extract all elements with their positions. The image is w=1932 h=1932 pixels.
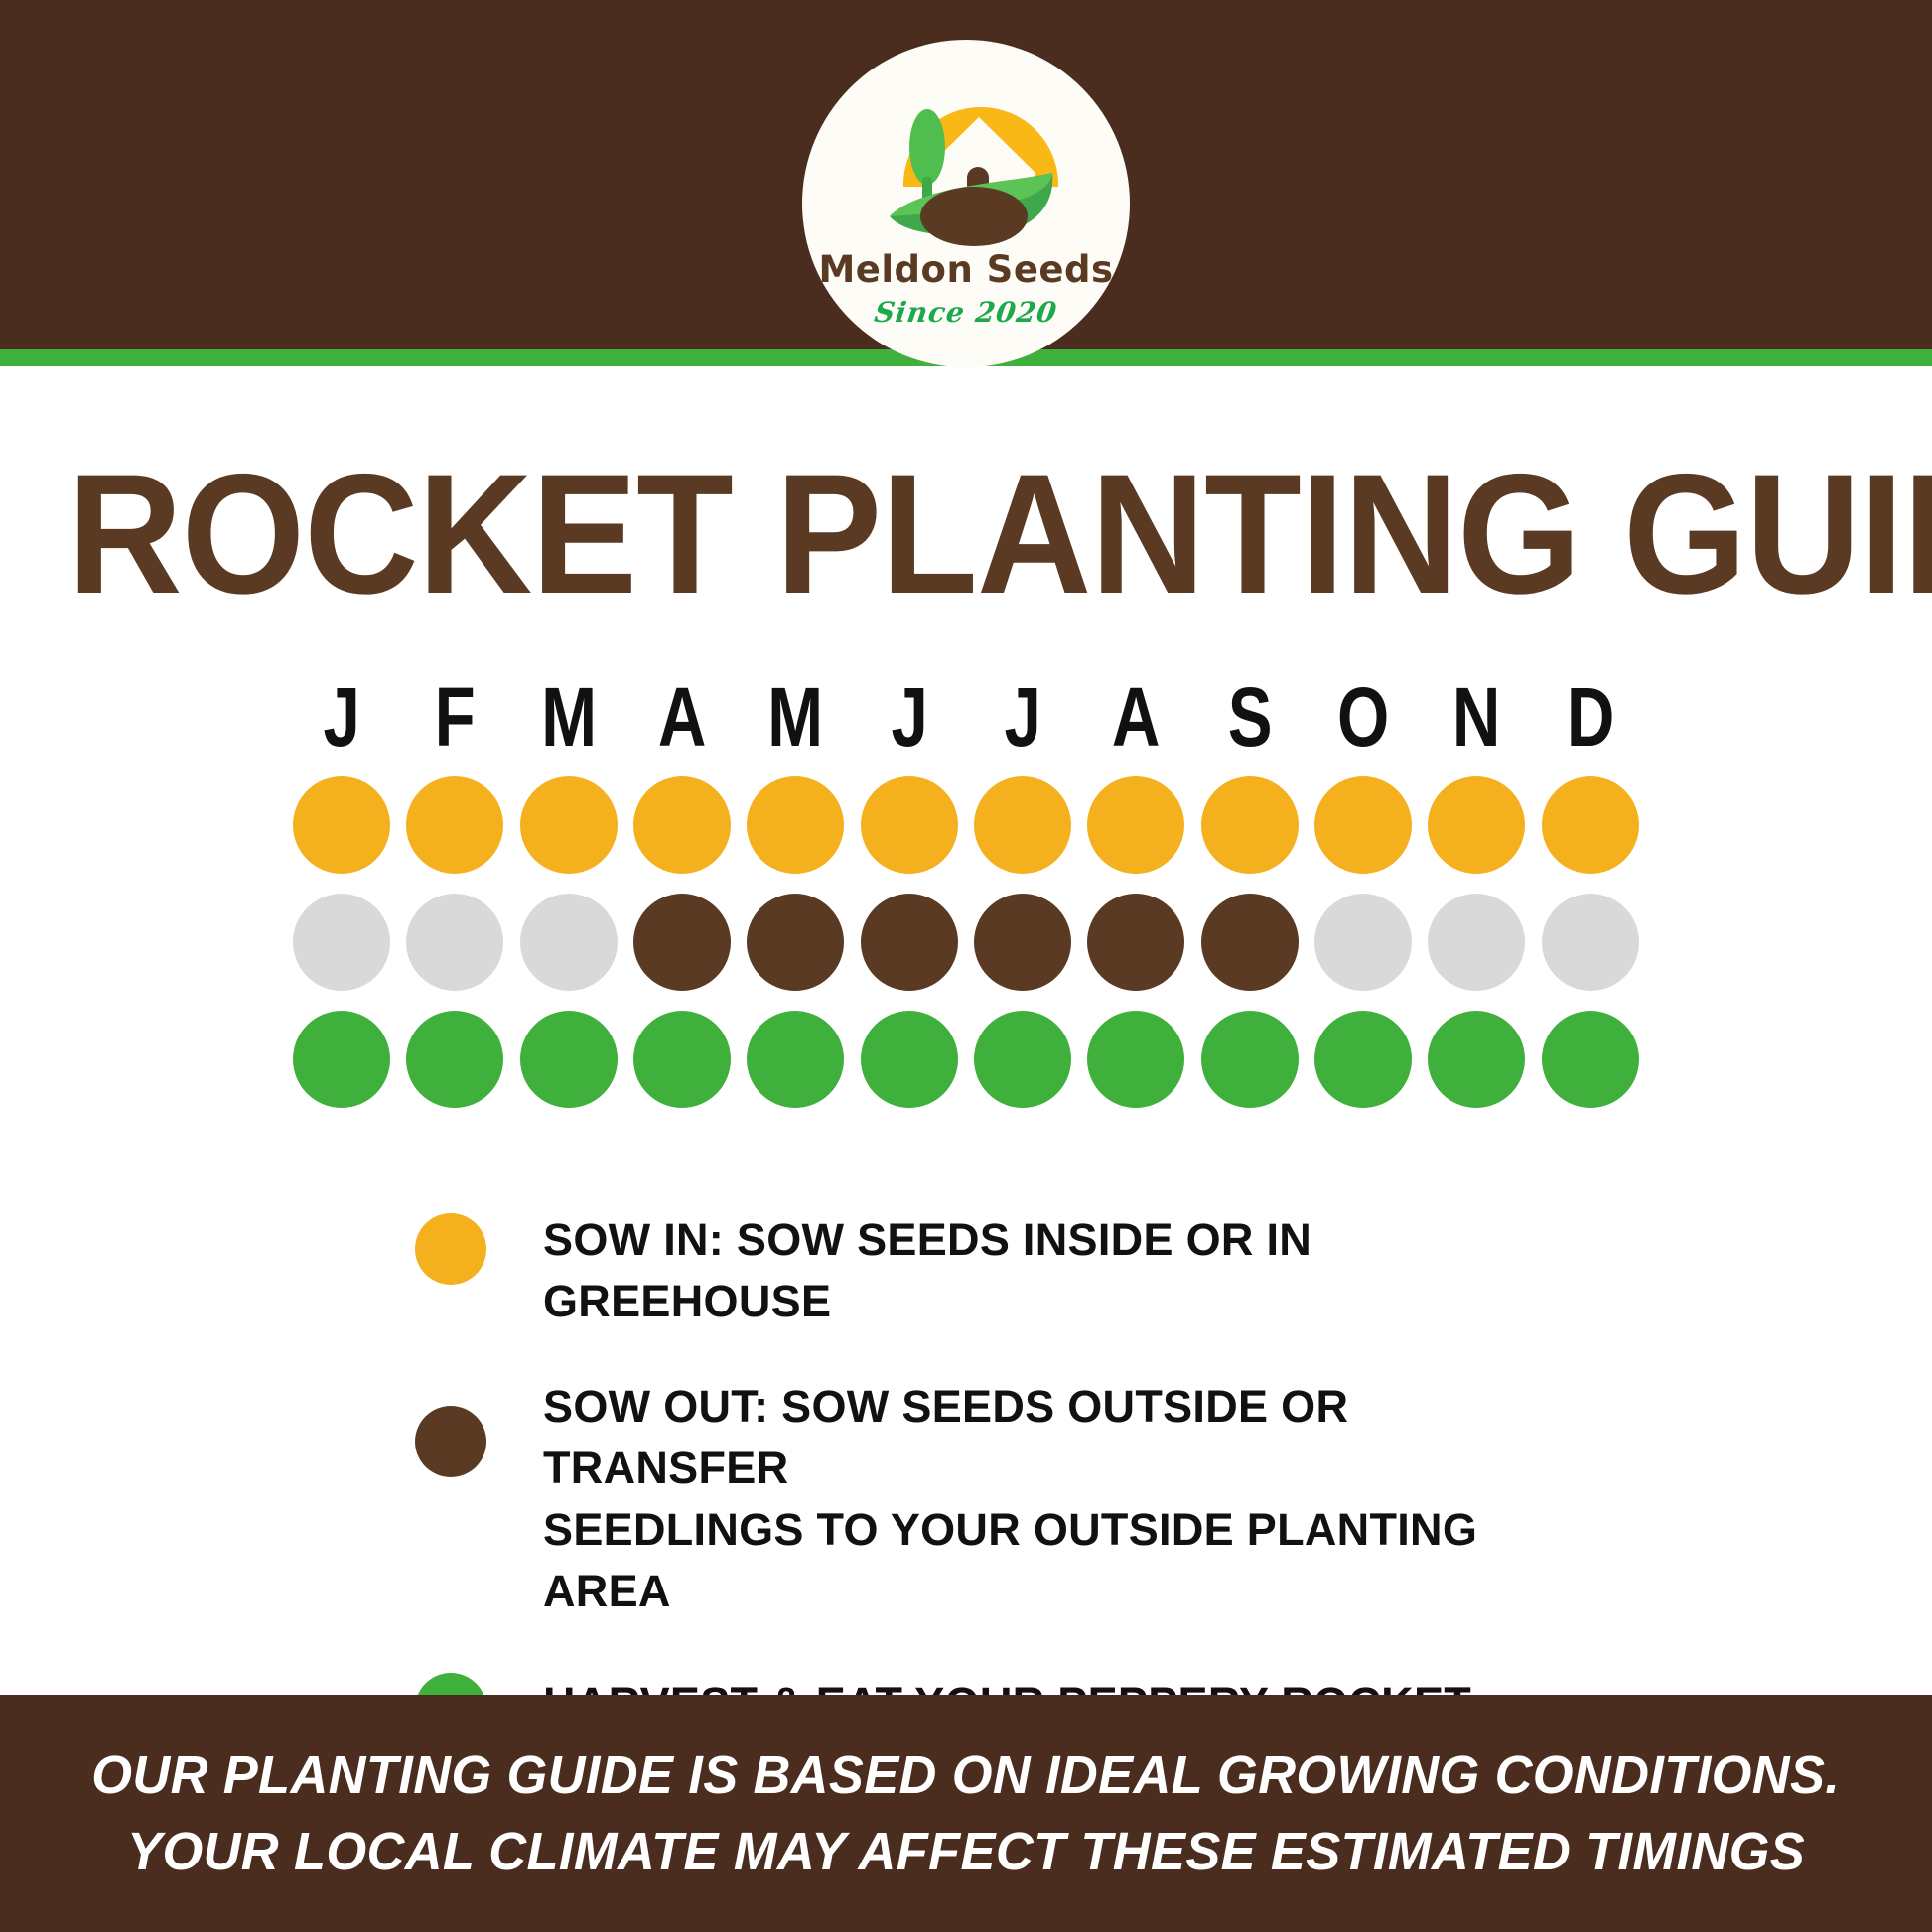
cell-sow-out-may: [739, 894, 852, 991]
dot-active: [1087, 1011, 1184, 1108]
dot-active: [406, 776, 503, 874]
footer-disclaimer-bar: OUR PLANTING GUIDE IS BASED ON IDEAL GRO…: [0, 1695, 1932, 1932]
dot-active: [747, 776, 844, 874]
cell-harvest-january: [285, 1011, 398, 1108]
month-label-november: N: [1432, 675, 1522, 759]
cell-sow-in-june: [853, 776, 966, 874]
month-label-january: J: [296, 675, 386, 759]
dot-active: [974, 776, 1071, 874]
month-label-august: A: [1091, 675, 1181, 759]
legend-item-sow-out: SOW OUT: SOW SEEDS OUTSIDE OR TRANSFERSE…: [415, 1376, 1606, 1622]
dot-active: [406, 1011, 503, 1108]
cell-sow-in-january: [285, 776, 398, 874]
dot-active: [974, 1011, 1071, 1108]
legend-dot-sow-out: [415, 1406, 486, 1477]
month-label-march: M: [523, 675, 614, 759]
dot-active: [861, 894, 958, 991]
dot-active: [293, 1011, 390, 1108]
dot-active: [520, 776, 618, 874]
dot-active: [1201, 1011, 1299, 1108]
cell-harvest-july: [966, 1011, 1079, 1108]
dot-active: [747, 894, 844, 991]
month-label-may: M: [751, 675, 841, 759]
dot-active: [1201, 776, 1299, 874]
dot-active: [747, 1011, 844, 1108]
cell-sow-out-july: [966, 894, 1079, 991]
cell-sow-out-april: [625, 894, 739, 991]
cell-harvest-april: [625, 1011, 739, 1108]
dot-active: [1542, 1011, 1639, 1108]
legend-label-line: SOW IN: SOW SEEDS INSIDE OR IN GREEHOUSE: [543, 1209, 1606, 1332]
dot-active: [520, 1011, 618, 1108]
legend-label-sow-in: SOW IN: SOW SEEDS INSIDE OR IN GREEHOUSE: [543, 1209, 1606, 1332]
dot-inactive: [1428, 894, 1525, 991]
cell-harvest-december: [1534, 1011, 1647, 1108]
logo-tagline: Since 2020: [873, 296, 1059, 329]
dot-active: [1428, 776, 1525, 874]
dot-active: [974, 894, 1071, 991]
dot-inactive: [293, 894, 390, 991]
legend-label-sow-out: SOW OUT: SOW SEEDS OUTSIDE OR TRANSFERSE…: [543, 1376, 1606, 1622]
dot-active: [633, 894, 731, 991]
legend-item-sow-in: SOW IN: SOW SEEDS INSIDE OR IN GREEHOUSE: [415, 1209, 1606, 1332]
cell-sow-out-june: [853, 894, 966, 991]
legend-label-line: SEEDLINGS TO YOUR OUTSIDE PLANTING AREA: [543, 1499, 1606, 1622]
cell-harvest-june: [853, 1011, 966, 1108]
cell-harvest-august: [1079, 1011, 1192, 1108]
dot-inactive: [1314, 894, 1412, 991]
dot-active: [633, 1011, 731, 1108]
month-label-december: D: [1545, 675, 1635, 759]
cell-harvest-march: [512, 1011, 625, 1108]
dot-active: [1542, 776, 1639, 874]
dot-row-harvest: [285, 1001, 1647, 1118]
legend-dot-sow-in: [415, 1213, 486, 1285]
month-label-april: A: [636, 675, 727, 759]
dot-active: [1201, 894, 1299, 991]
cell-harvest-february: [398, 1011, 511, 1108]
cell-sow-out-september: [1193, 894, 1307, 991]
cell-sow-in-may: [739, 776, 852, 874]
page-title: ROCKET PLANTING GUIDE: [68, 449, 1864, 620]
dot-active: [861, 776, 958, 874]
dot-active: [633, 776, 731, 874]
cell-harvest-september: [1193, 1011, 1307, 1108]
dot-inactive: [1542, 894, 1639, 991]
dot-active: [293, 776, 390, 874]
cell-sow-out-november: [1420, 894, 1533, 991]
cell-harvest-may: [739, 1011, 852, 1108]
brand-logo-badge: Meldon Seeds Since 2020: [802, 40, 1130, 367]
cell-harvest-october: [1307, 1011, 1420, 1108]
month-label-june: J: [864, 675, 954, 759]
dot-active: [1428, 1011, 1525, 1108]
dot-inactive: [406, 894, 503, 991]
month-label-july: J: [977, 675, 1067, 759]
logo-wordmark: Meldon Seeds: [818, 251, 1113, 288]
cell-sow-out-january: [285, 894, 398, 991]
dot-row-sow-in: [285, 766, 1647, 884]
dot-active: [1314, 1011, 1412, 1108]
legend-label-line: SOW OUT: SOW SEEDS OUTSIDE OR TRANSFER: [543, 1376, 1606, 1499]
dot-active: [1087, 894, 1184, 991]
planting-calendar-grid: JFMAMJJASOND: [285, 667, 1647, 1118]
cell-sow-out-october: [1307, 894, 1420, 991]
month-label-october: O: [1317, 675, 1408, 759]
cell-sow-in-february: [398, 776, 511, 874]
dot-active: [1314, 776, 1412, 874]
dot-inactive: [520, 894, 618, 991]
dot-row-sow-out: [285, 884, 1647, 1001]
cell-sow-in-april: [625, 776, 739, 874]
cell-sow-in-october: [1307, 776, 1420, 874]
dot-active: [861, 1011, 958, 1108]
footer-line-1: OUR PLANTING GUIDE IS BASED ON IDEAL GRO…: [91, 1737, 1840, 1814]
cell-sow-out-december: [1534, 894, 1647, 991]
footer-line-2: YOUR LOCAL CLIMATE MAY AFFECT THESE ESTI…: [127, 1814, 1805, 1890]
cell-sow-out-august: [1079, 894, 1192, 991]
cell-harvest-november: [1420, 1011, 1533, 1108]
cell-sow-in-november: [1420, 776, 1533, 874]
cell-sow-in-march: [512, 776, 625, 874]
month-label-september: S: [1204, 675, 1295, 759]
cell-sow-in-december: [1534, 776, 1647, 874]
month-label-february: F: [410, 675, 500, 759]
dot-active: [1087, 776, 1184, 874]
cell-sow-out-february: [398, 894, 511, 991]
cell-sow-in-september: [1193, 776, 1307, 874]
cell-sow-in-august: [1079, 776, 1192, 874]
month-header-row: JFMAMJJASOND: [285, 667, 1647, 766]
cell-sow-in-july: [966, 776, 1079, 874]
cell-sow-out-march: [512, 894, 625, 991]
farmhouse-tree-seed-icon: [862, 66, 1070, 249]
